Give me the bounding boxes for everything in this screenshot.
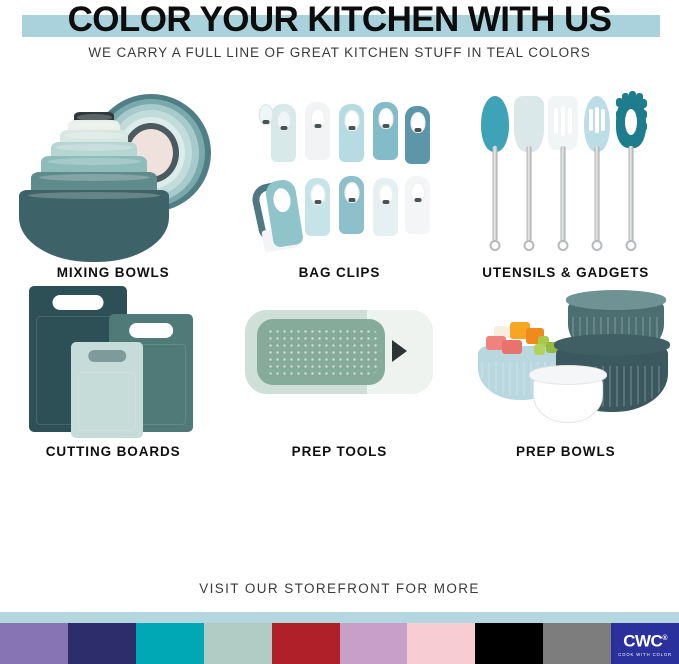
prep-tools-image bbox=[226, 280, 452, 440]
product-cell-bag-clips[interactable]: BAG CLIPS bbox=[226, 86, 452, 280]
color-swatch-navy bbox=[68, 623, 136, 664]
open-bag-clip-icon bbox=[253, 176, 315, 252]
color-swatch-gray bbox=[543, 623, 611, 664]
brand-tagline: COOK WITH COLOR bbox=[618, 652, 672, 657]
nested-bowls-icon bbox=[19, 108, 169, 248]
color-swatch-pink bbox=[407, 623, 475, 664]
fruit-garnish-icon bbox=[484, 322, 558, 356]
product-cell-cutting-boards[interactable]: CUTTING BOARDS bbox=[0, 280, 226, 459]
color-swatch-purple bbox=[0, 623, 68, 664]
product-row-1: MIXING BOWLS bbox=[0, 86, 679, 280]
slotted-spoon-icon bbox=[584, 96, 610, 152]
page-subtitle: WE CARRY A FULL LINE OF GREAT KITCHEN ST… bbox=[0, 45, 679, 60]
bag-clips-image bbox=[226, 86, 452, 261]
footer-rule bbox=[0, 612, 679, 623]
color-swatch-black bbox=[475, 623, 543, 664]
product-cell-mixing-bowls[interactable]: MIXING BOWLS bbox=[0, 86, 226, 280]
spatula-icon bbox=[514, 96, 544, 152]
cutting-boards-image bbox=[0, 280, 226, 440]
color-swatch-teal bbox=[136, 623, 204, 664]
color-swatch-red bbox=[272, 623, 340, 664]
prep-bowls-image bbox=[453, 280, 679, 440]
color-swatch-strip: CWC®COOK WITH COLOR bbox=[0, 623, 679, 664]
product-grid: MIXING BOWLS bbox=[0, 86, 679, 459]
page-title: COLOR YOUR KITCHEN WITH US bbox=[0, 0, 679, 40]
product-row-2: CUTTING BOARDS PREP TOOLS bbox=[0, 280, 679, 459]
pasta-server-icon bbox=[616, 96, 646, 148]
product-cell-prep-bowls[interactable]: PREP BOWLS bbox=[453, 280, 679, 459]
marketing-image: COLOR YOUR KITCHEN WITH US WE CARRY A FU… bbox=[0, 0, 679, 664]
color-swatch-orchid bbox=[340, 623, 408, 664]
header: COLOR YOUR KITCHEN WITH US WE CARRY A FU… bbox=[0, 0, 679, 78]
spoon-icon bbox=[481, 96, 509, 152]
storefront-cta[interactable]: VISIT OUR STOREFRONT FOR MORE bbox=[0, 581, 679, 596]
brand-mark: CWC® bbox=[623, 630, 667, 650]
product-cell-prep-tools[interactable]: PREP TOOLS bbox=[226, 280, 452, 459]
prep-bowl-set-icon bbox=[472, 284, 668, 434]
brand-logo: CWC®COOK WITH COLOR bbox=[611, 623, 679, 664]
mixing-bowls-image bbox=[0, 86, 226, 261]
colander-icon bbox=[245, 310, 433, 394]
color-swatch-sage bbox=[204, 623, 272, 664]
product-cell-utensils[interactable]: UTENSILS & GADGETS bbox=[453, 86, 679, 280]
bag-clips-icon bbox=[253, 98, 433, 253]
utensil-set-icon bbox=[478, 96, 654, 256]
utensils-image bbox=[453, 86, 679, 261]
cutting-board-set-icon bbox=[23, 280, 203, 438]
drain-spout-icon bbox=[392, 340, 407, 362]
slotted-turner-icon bbox=[548, 96, 578, 150]
